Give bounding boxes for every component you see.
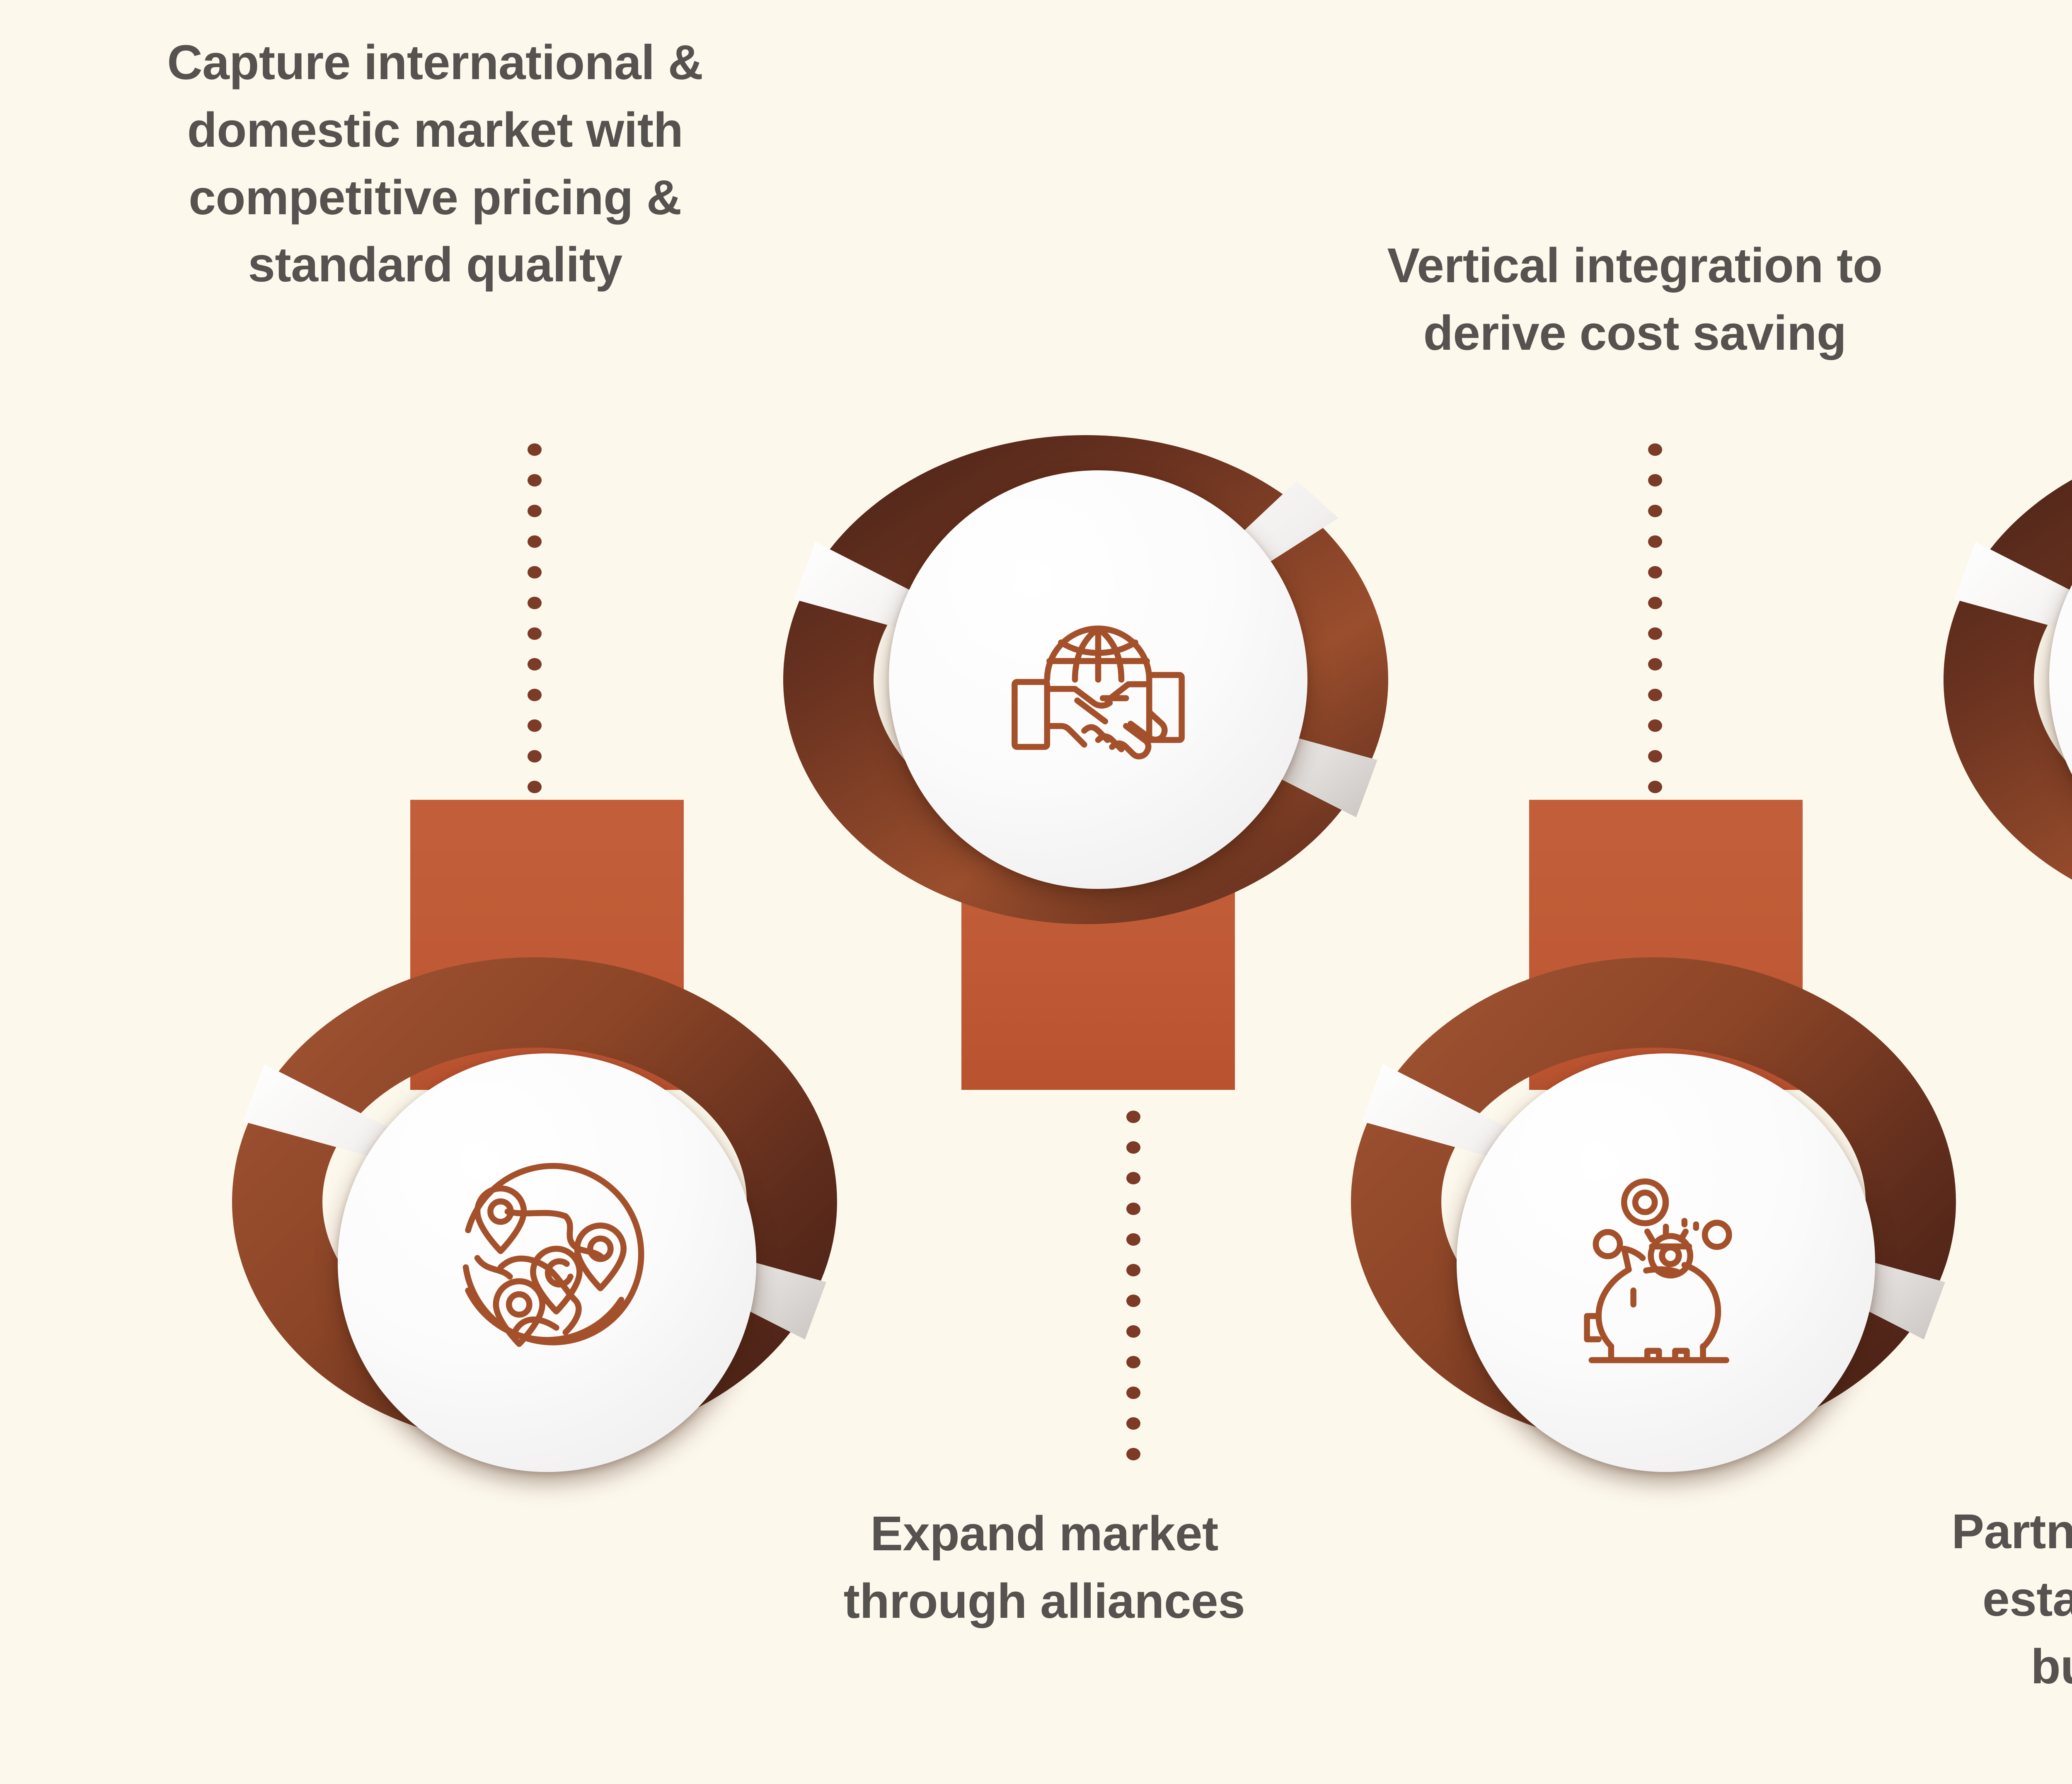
connector-dot xyxy=(1648,627,1662,640)
connector-dot xyxy=(1126,1295,1140,1307)
connector-dot xyxy=(528,566,542,579)
globe-location-pins-icon xyxy=(431,1147,663,1379)
connector-dot xyxy=(1126,1233,1140,1246)
connector-dot xyxy=(528,781,542,793)
badge-item-2[interactable] xyxy=(783,435,1430,1090)
connector-dot xyxy=(1648,750,1662,762)
connector-dot xyxy=(528,443,542,456)
badge-icon-circle xyxy=(889,470,1307,889)
badge-item-4[interactable] xyxy=(1944,435,2072,1090)
piggy-bank-coins-icon xyxy=(1550,1147,1782,1379)
connector-dot xyxy=(1126,1172,1140,1184)
connector-dot xyxy=(1648,566,1662,579)
badge-icon-circle xyxy=(338,1053,756,1472)
connector-dot xyxy=(1126,1325,1140,1338)
badge-icon-circle xyxy=(1457,1053,1875,1472)
connector-dot xyxy=(1126,1387,1140,1399)
connector-dot xyxy=(1648,597,1662,609)
label-item-4: Partner with clients to establish profit… xyxy=(1790,1498,2072,1700)
connector-dot xyxy=(528,750,542,762)
connector-dot xyxy=(528,689,542,701)
connector-dot xyxy=(1126,1417,1140,1430)
connector-dot xyxy=(1126,1203,1140,1215)
connector-dot xyxy=(1126,1448,1140,1460)
connector-dot xyxy=(1648,658,1662,671)
connector-dot xyxy=(1648,505,1662,517)
infographic-canvas: Capture international & domestic market … xyxy=(0,0,2072,1784)
connector-dot xyxy=(528,658,542,671)
connector-dot xyxy=(528,597,542,609)
connector-dot xyxy=(1648,689,1662,701)
connector-dot xyxy=(1648,781,1662,793)
connector-dot xyxy=(1648,719,1662,732)
badge-item-1[interactable] xyxy=(232,800,879,1446)
connector-dot xyxy=(528,627,542,640)
label-item-2: Expand market through alliances xyxy=(696,1500,1392,1635)
connector-dot xyxy=(1126,1111,1140,1123)
connector-item-1 xyxy=(528,443,542,811)
connector-item-3 xyxy=(1648,443,1662,811)
badge-item-3[interactable] xyxy=(1351,800,1997,1446)
connector-dot xyxy=(1126,1141,1140,1154)
connector-item-2 xyxy=(1126,1111,1140,1479)
connector-dot xyxy=(528,719,542,732)
connector-dot xyxy=(528,535,542,548)
globe-handshake-icon xyxy=(982,564,1214,796)
connector-dot xyxy=(528,474,542,487)
connector-dot xyxy=(1648,535,1662,548)
connector-dot xyxy=(528,505,542,517)
connector-dot xyxy=(1648,443,1662,456)
label-item-3: Vertical integration to derive cost savi… xyxy=(1218,232,2051,367)
connector-dot xyxy=(1126,1264,1140,1276)
label-item-1: Capture international & domestic market … xyxy=(25,29,845,299)
connector-dot xyxy=(1126,1356,1140,1368)
connector-dot xyxy=(1648,474,1662,487)
